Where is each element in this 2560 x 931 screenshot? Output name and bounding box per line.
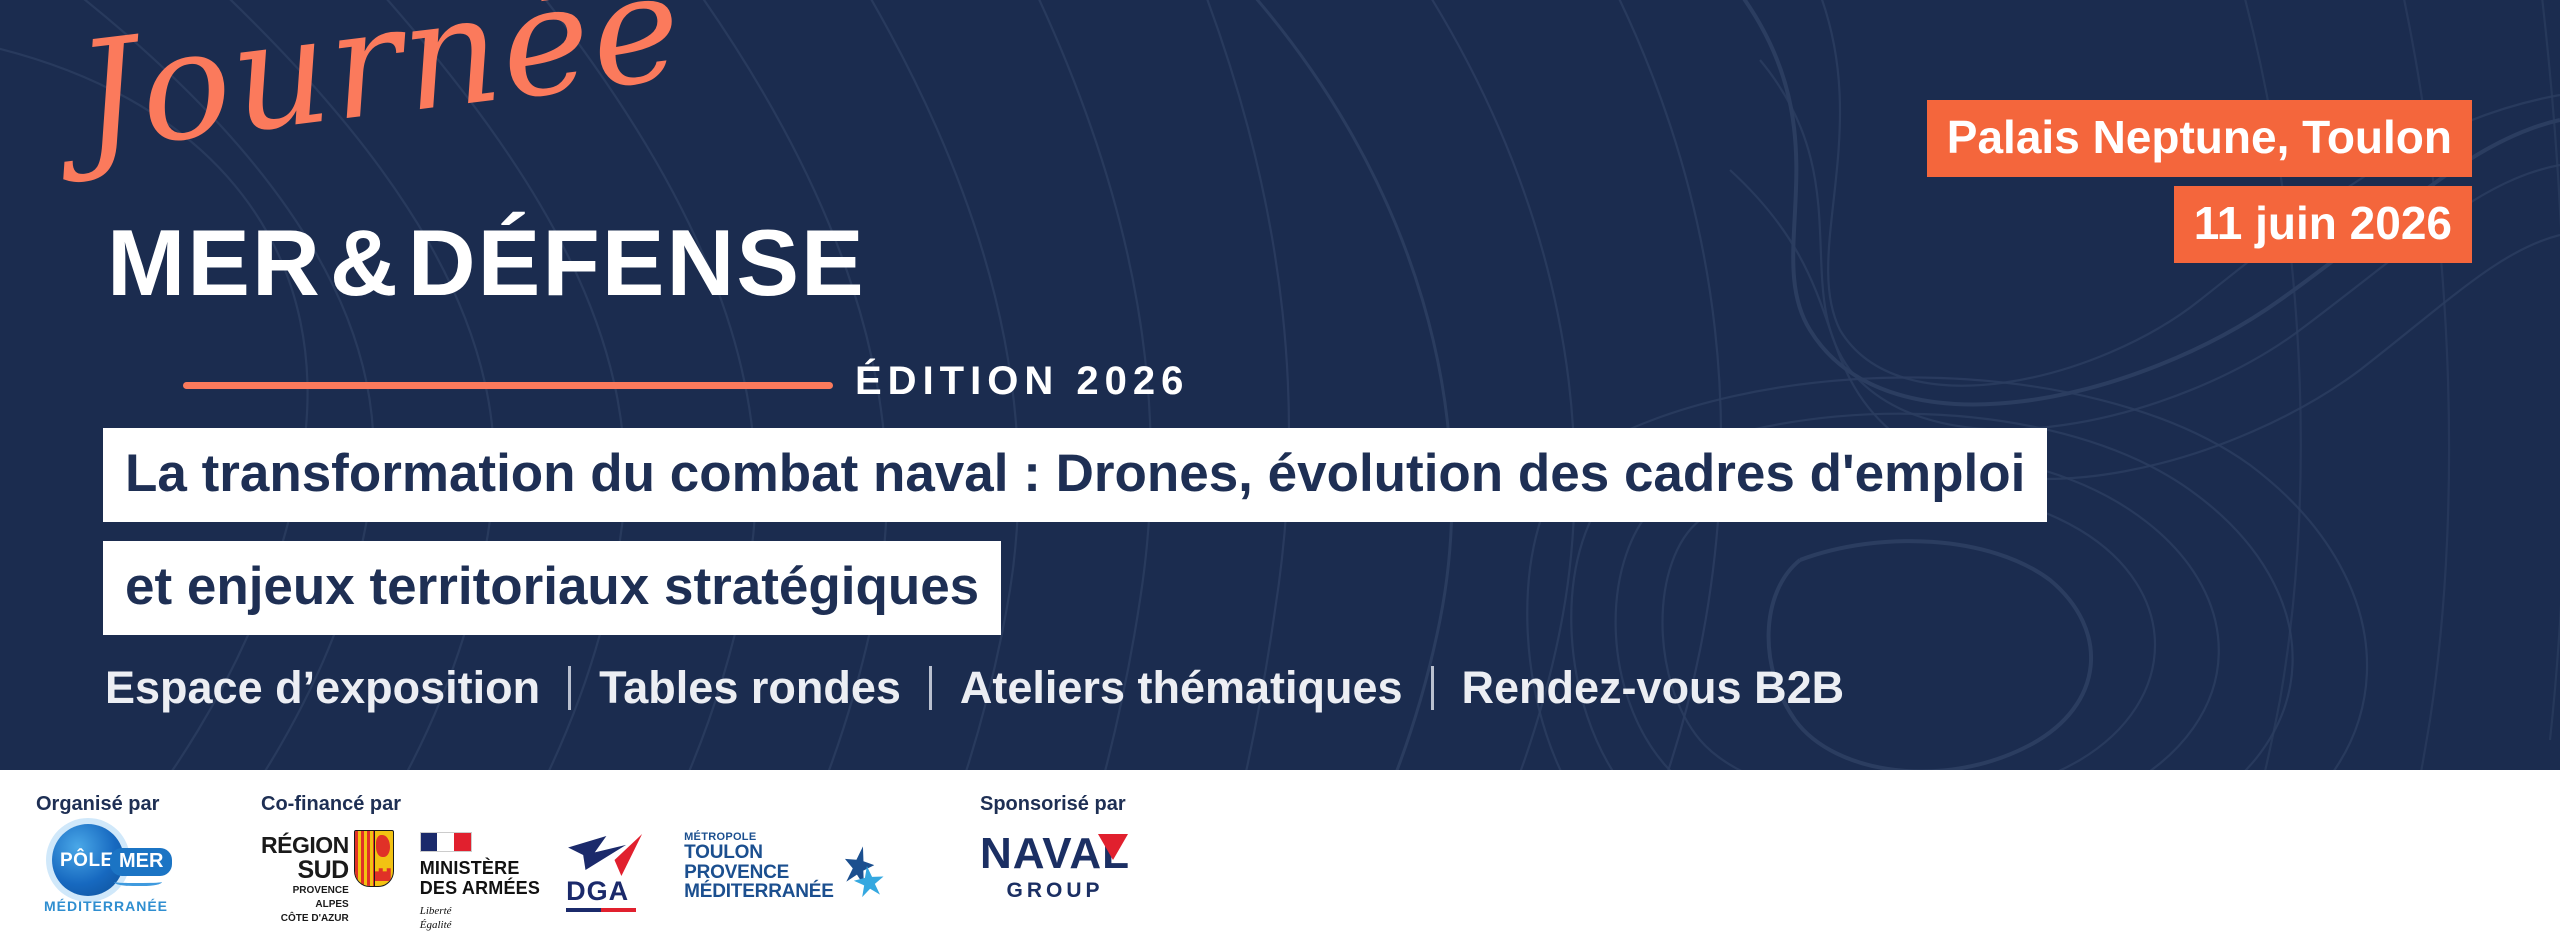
dga-logo: DGA	[566, 830, 658, 914]
naval-red-triangle-icon	[1098, 834, 1128, 860]
dga-dart-icon	[566, 832, 644, 878]
partner-group-cofinance: Co-financé par RÉGION SUD PROVENCE ALPES…	[261, 770, 882, 931]
headline-line-1: La transformation du combat naval : Dron…	[103, 428, 2047, 522]
feature-separator	[568, 666, 571, 710]
title-mer: MER	[107, 210, 322, 315]
flag-white-band	[437, 833, 454, 851]
pole-mer-pole-text: PÔLE	[60, 850, 114, 872]
feature-item-exposition: Espace d’exposition	[103, 662, 542, 714]
cofinance-label: Co-financé par	[261, 793, 882, 816]
title-ampersand: &	[322, 210, 408, 315]
pole-mer-mediterranee-logo: PÔLE MER MÉDITERRANÉE	[36, 824, 166, 912]
devise-egalite: Égalité	[420, 918, 540, 931]
features-list: Espace d’exposition Tables rondes Atelie…	[103, 662, 1846, 714]
event-headline: La transformation du combat naval : Dron…	[103, 428, 2047, 635]
shield-castle-icon	[375, 865, 391, 881]
tpm-mediterranee-text: MÉDITERRANÉE	[684, 882, 834, 901]
tpm-provence-text: PROVENCE	[684, 863, 834, 882]
headline-line-2: et enjeux territoriaux stratégiques	[103, 541, 1001, 635]
sponsor-label: Sponsorisé par	[980, 793, 1130, 816]
french-flag-icon	[420, 832, 472, 852]
ministere-title: MINISTÈRE DES ARMÉES	[420, 859, 540, 899]
dga-wordmark: DGA	[566, 878, 658, 905]
region-sud-sub-cotedazur: CÔTE D'AZUR	[261, 913, 349, 925]
region-sud-sub-provence: PROVENCE	[261, 885, 349, 897]
metropole-tpm-logo: MÉTROPOLE TOULON PROVENCE MÉDITERRANÉE	[684, 830, 882, 902]
shield-stripes-icon	[355, 831, 375, 886]
coral-divider-rule	[183, 382, 833, 389]
edition-year-label: ÉDITION 2026	[855, 359, 1189, 404]
flag-blue-band	[421, 833, 438, 851]
tpm-wordmark: MÉTROPOLE TOULON PROVENCE MÉDITERRANÉE	[684, 832, 834, 901]
dga-underline-blue	[566, 908, 601, 912]
title-defense: DÉFENSE	[408, 210, 866, 315]
region-sud-sud-text: SUD	[261, 857, 349, 883]
feature-item-ateliers: Ateliers thématiques	[958, 662, 1405, 714]
region-sud-shield-icon	[354, 830, 394, 887]
ministere-devise: Liberté Égalité Fraternité	[420, 904, 540, 931]
journee-script-word: Journée	[70, 0, 691, 174]
ministere-des-armees-logo: MINISTÈRE DES ARMÉES Liberté Égalité Fra…	[420, 830, 540, 931]
pole-mer-mediterranee-text: MÉDITERRANÉE	[44, 898, 168, 914]
feature-item-tables-rondes: Tables rondes	[597, 662, 903, 714]
shield-dolphin-icon	[376, 835, 390, 857]
partners-bar: Organisé par PÔLE MER MÉDITERRANÉE Co-fi…	[0, 770, 2560, 931]
partner-group-organise: Organisé par PÔLE MER MÉDITERRANÉE	[36, 770, 166, 931]
dga-underline-icon	[566, 908, 636, 912]
event-main-title: MER&DÉFENSE	[107, 216, 866, 310]
organise-label: Organisé par	[36, 793, 166, 816]
ministere-line-2: DES ARMÉES	[420, 879, 540, 899]
flag-red-band	[454, 833, 471, 851]
pole-mer-mer-text: MER	[110, 848, 172, 876]
naval-group-logo: NAVAL GROUP	[980, 832, 1130, 903]
hero-section: Journée MER&DÉFENSE ÉDITION 2026 Palais …	[0, 0, 2560, 770]
partner-group-sponsor: Sponsorisé par NAVAL GROUP	[980, 770, 1130, 931]
naval-wordmark: NAVAL	[980, 832, 1130, 876]
tpm-toulon-text: TOULON	[684, 843, 834, 862]
naval-group-text: GROUP	[980, 879, 1130, 903]
feature-item-b2b: Rendez-vous B2B	[1460, 662, 1847, 714]
region-sud-logo: RÉGION SUD PROVENCE ALPES CÔTE D'AZUR	[261, 830, 394, 925]
venue-badge: Palais Neptune, Toulon	[1927, 100, 2472, 177]
pole-mer-wave-icon	[114, 876, 162, 886]
dga-underline-red	[601, 908, 636, 912]
region-sud-sub-alpes: ALPES	[261, 899, 349, 911]
tpm-star-icon	[838, 844, 882, 902]
cofinance-logos-row: RÉGION SUD PROVENCE ALPES CÔTE D'AZUR	[261, 830, 882, 931]
region-sud-region-text: RÉGION	[261, 834, 349, 857]
region-sud-wordmark: RÉGION SUD PROVENCE ALPES CÔTE D'AZUR	[261, 830, 349, 925]
event-logotype: Journée MER&DÉFENSE ÉDITION 2026	[103, 28, 1203, 388]
ministere-line-1: MINISTÈRE	[420, 859, 540, 879]
feature-separator	[1431, 666, 1434, 710]
feature-separator	[929, 666, 932, 710]
venue-date-badges: Palais Neptune, Toulon 11 juin 2026	[1927, 100, 2472, 263]
date-badge: 11 juin 2026	[2174, 186, 2472, 263]
event-banner: Journée MER&DÉFENSE ÉDITION 2026 Palais …	[0, 0, 2560, 931]
devise-liberte: Liberté	[420, 904, 540, 919]
